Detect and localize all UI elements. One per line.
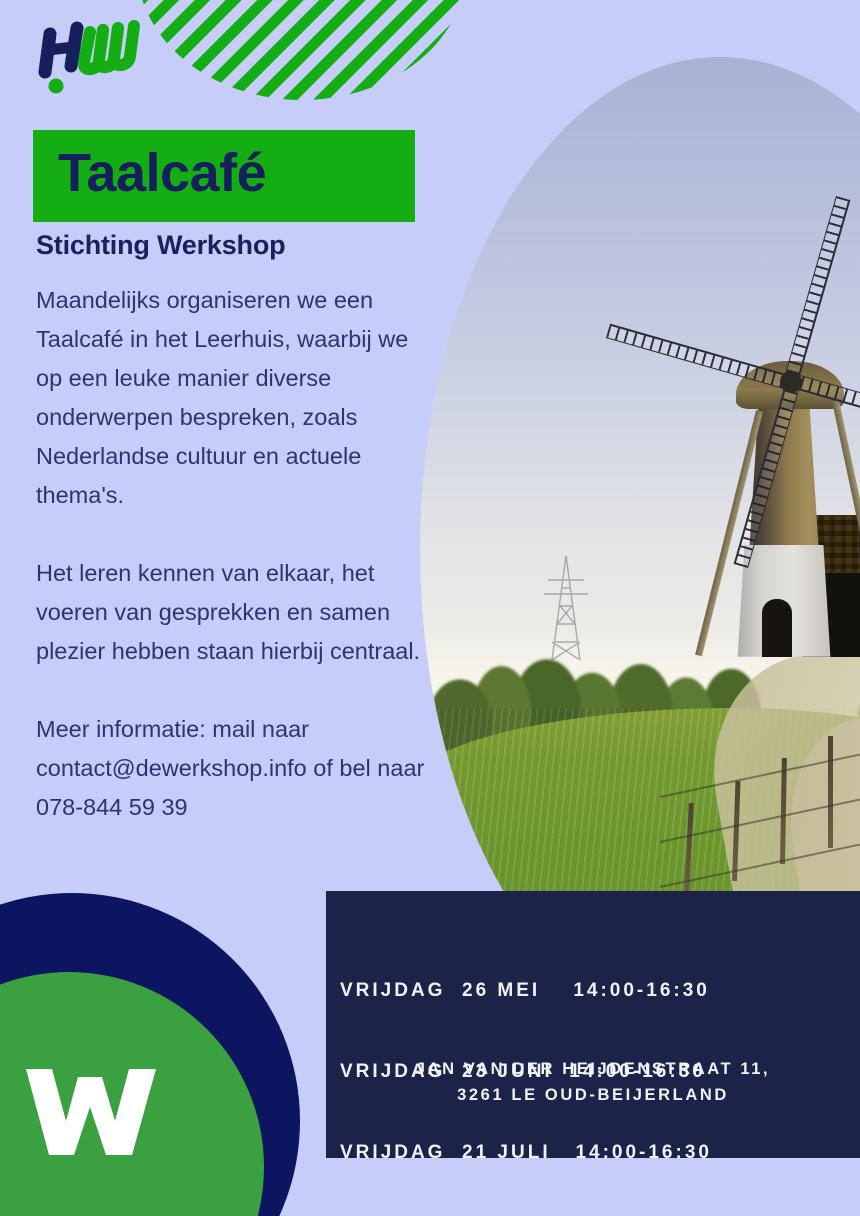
page-title: Taalcafé: [58, 146, 266, 200]
address-line-1: JAN VAN DER HEIJDENSTRAAT 11,: [336, 1056, 850, 1082]
poster-root: Taalcafé Stichting Werkshop Maandelijks …: [0, 0, 860, 1216]
title-band: Taalcafé: [33, 130, 415, 222]
schedule-row: VRIJDAG 21 JULI 14:00-16:30: [340, 1139, 712, 1166]
hw-logo: [32, 16, 152, 96]
werkshop-w-mark: [22, 1063, 162, 1159]
photo-electricity-pylon: [540, 550, 592, 660]
venue-address: JAN VAN DER HEIJDENSTRAAT 11, 3261 LE OU…: [326, 1056, 860, 1108]
windmill-hub: [780, 371, 802, 393]
photo-windmill: [636, 215, 860, 775]
paragraph-2: Het leren kennen van elkaar, het voeren …: [36, 554, 436, 671]
paragraph-3: Meer informatie: mail naar contact@dewer…: [36, 710, 436, 827]
fence-post: [732, 781, 740, 881]
body-copy: Maandelijks organiseren we een Taalcafé …: [36, 281, 436, 827]
striped-circle-decoration: [137, 0, 467, 100]
w-letter-icon: [22, 1063, 162, 1159]
pylon-icon: [540, 550, 592, 660]
organisation-subtitle: Stichting Werkshop: [36, 230, 285, 261]
schedule-row: VRIJDAG 26 MEI 14:00-16:30: [340, 977, 712, 1004]
windmill-sail: [782, 196, 850, 389]
address-line-2: 3261 LE OUD-BEIJERLAND: [336, 1082, 850, 1108]
hw-logo-icon: [32, 16, 152, 96]
diagonal-stripes: [137, 0, 467, 100]
paragraph-1: Maandelijks organiseren we een Taalcafé …: [36, 281, 436, 515]
info-panel: VRIJDAG 26 MEI 14:00-16:30 VRIJDAG 23 JU…: [326, 891, 860, 1158]
windmill-door: [762, 599, 792, 657]
